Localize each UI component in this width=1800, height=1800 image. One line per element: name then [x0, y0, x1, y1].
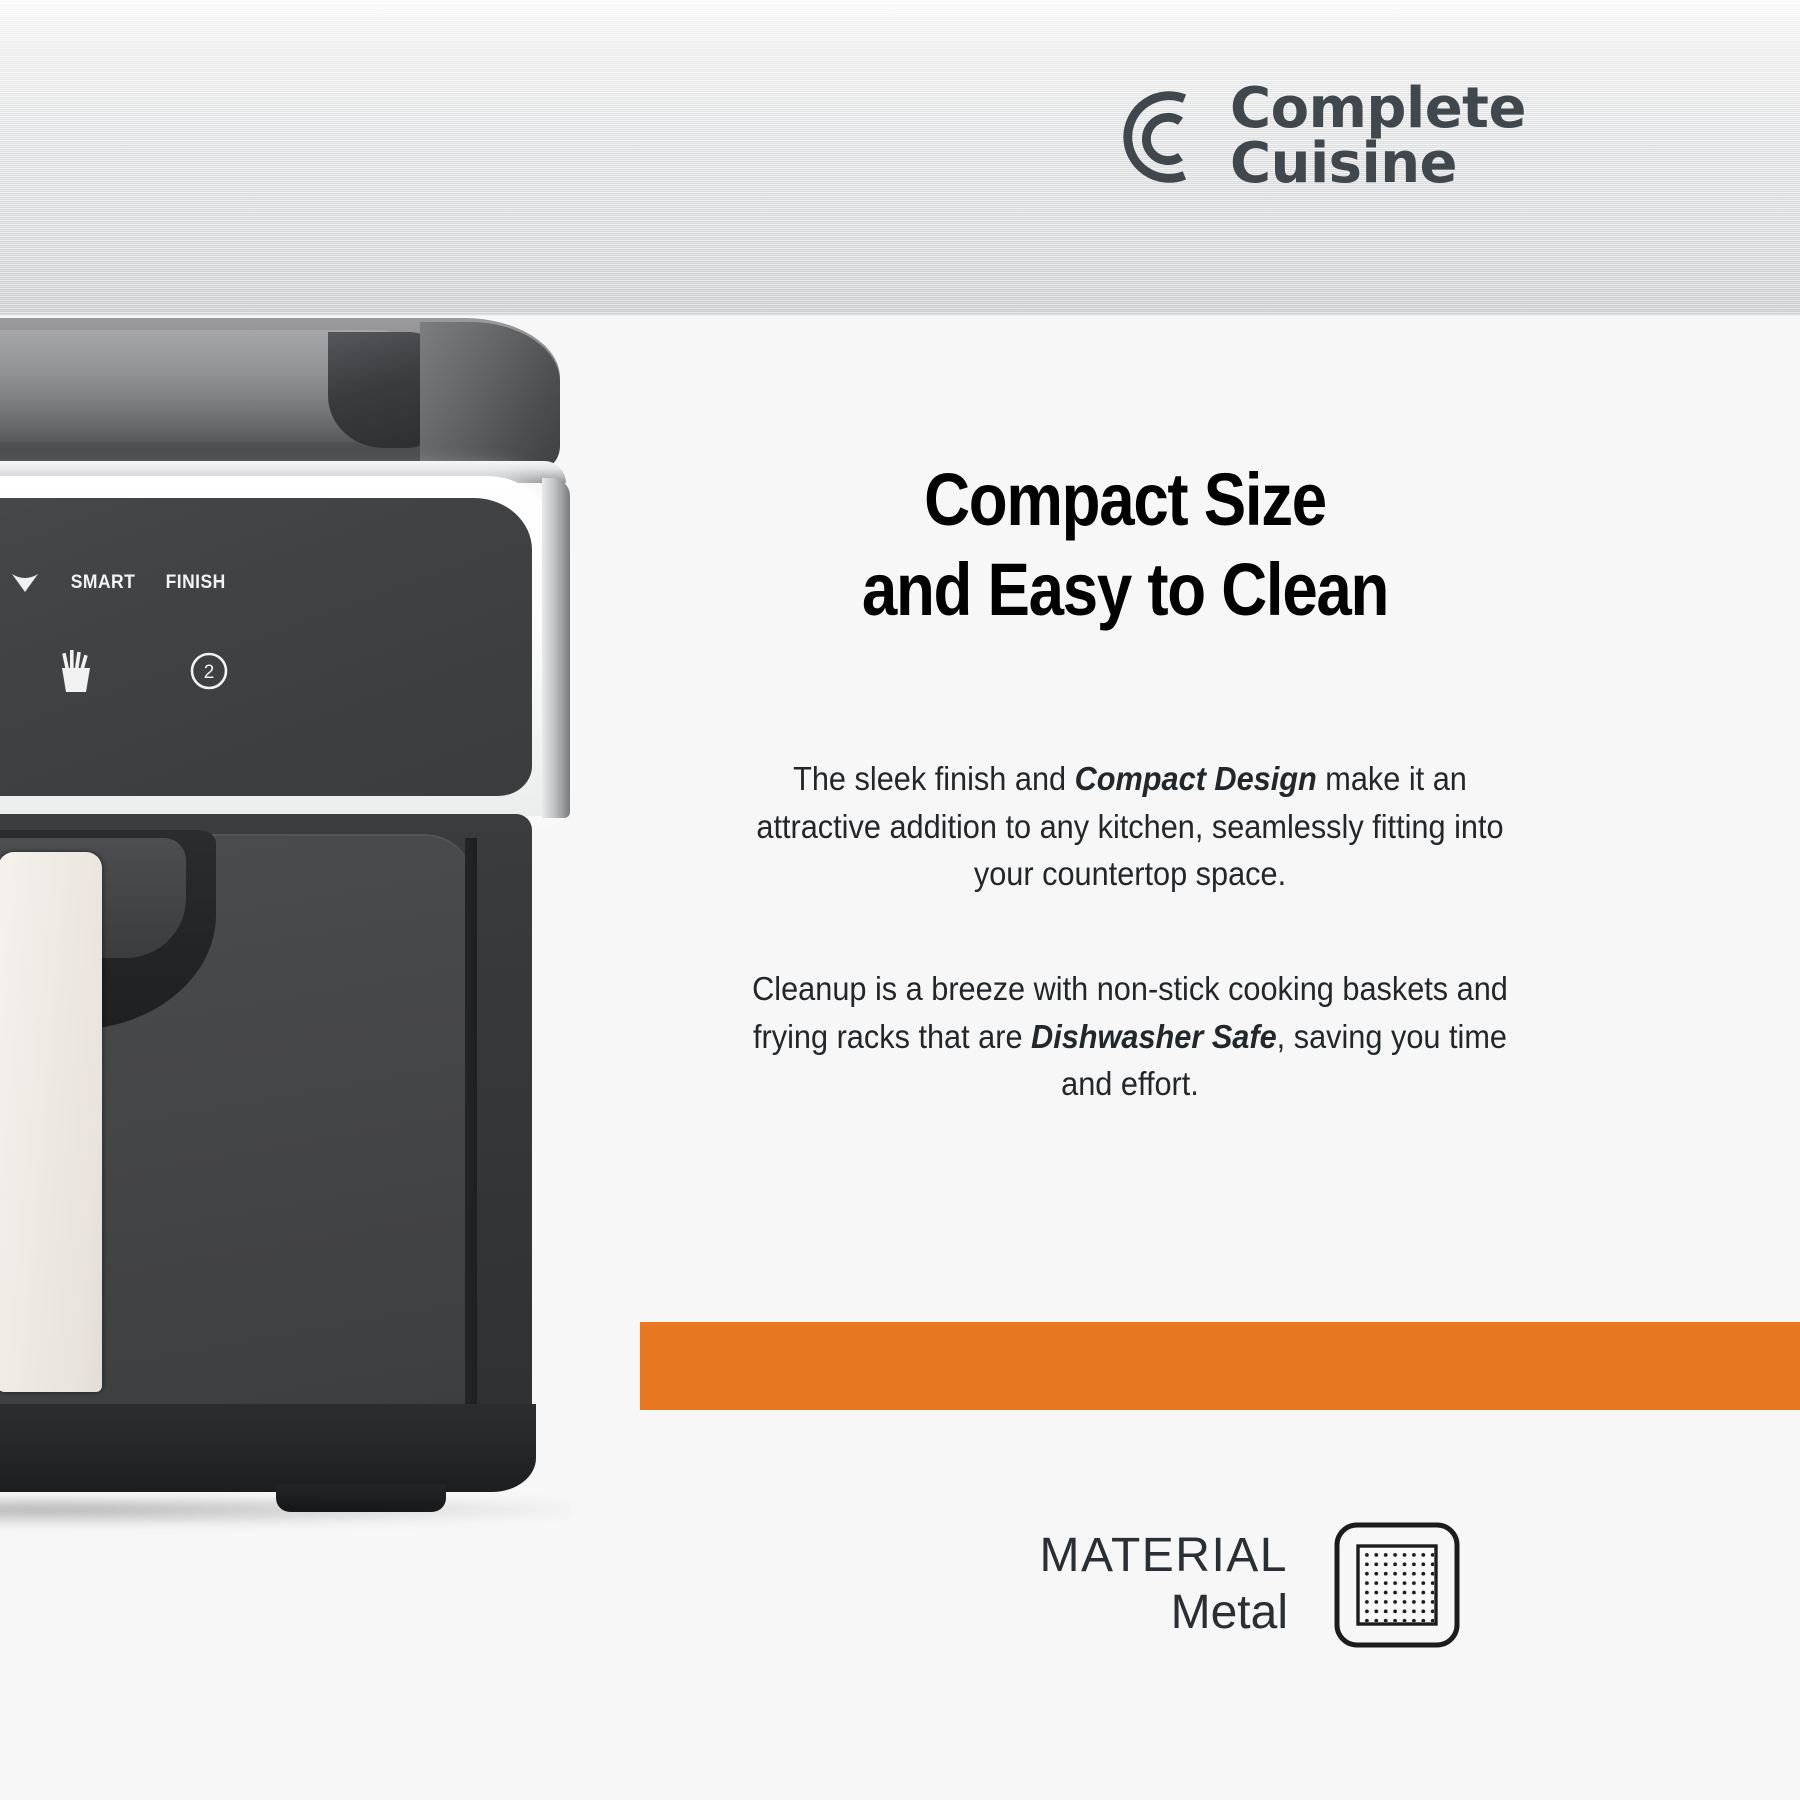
material-label: MATERIAL [1040, 1528, 1288, 1585]
brand-logo: Complete Cuisine [1090, 78, 1526, 196]
logo-line-2: Cuisine [1230, 137, 1526, 192]
drawer-handle[interactable] [0, 852, 102, 1392]
orange-accent-bar [640, 1322, 1800, 1410]
material-value: Metal [1040, 1585, 1288, 1642]
fryer-drawer-seam [465, 838, 477, 1418]
headline-line-1: Compact Size [924, 458, 1326, 541]
finish-button[interactable]: FINISH [148, 572, 244, 594]
air-fryer-product-image: 350F [0, 318, 590, 1518]
para2-emphasis: Dishwasher Safe [1031, 1018, 1277, 1055]
material-text-block: MATERIAL Metal [1040, 1528, 1288, 1641]
smart-button[interactable]: SMART [58, 572, 148, 594]
product-panel-brand: e Cuisine [0, 758, 30, 812]
control-button-row: SMART FINISH [0, 556, 320, 610]
para1-emphasis: Compact Design [1075, 760, 1317, 797]
svg-text:2: 2 [204, 662, 215, 683]
material-badge: MATERIAL Metal [1040, 1495, 1460, 1675]
dual-zone-preset-icon[interactable]: 2 [144, 651, 274, 691]
preset-icon-row: 2 [0, 636, 282, 706]
control-panel-right-edge [542, 478, 570, 818]
para1-lead: The sleek finish and [793, 760, 1074, 797]
double-arc-c-logo-icon [1090, 78, 1208, 196]
feature-paragraph-1: The sleek finish and Compact Design make… [739, 755, 1520, 898]
product-feature-banner: Complete Cuisine Compact Size and Easy t… [0, 0, 1800, 1800]
header-band [0, 0, 1800, 316]
feature-paragraph-2: Cleanup is a breeze with non-stick cooki… [739, 965, 1520, 1108]
smart-button-label: SMART [71, 572, 135, 594]
pizza-preset-icon[interactable] [0, 652, 8, 690]
fryer-base [0, 1404, 536, 1492]
temp-down-arrow-icon[interactable] [0, 572, 58, 594]
headline-line-2: and Easy to Clean [760, 545, 1491, 635]
fryer-lid-right-shoulder [420, 322, 560, 472]
fries-preset-icon[interactable] [8, 649, 144, 693]
perforated-metal-mesh-icon [1334, 1522, 1460, 1648]
page-title: Compact Size and Easy to Clean [760, 455, 1491, 636]
finish-button-label: FINISH [166, 572, 226, 594]
logo-wordmark: Complete Cuisine [1230, 82, 1526, 192]
fryer-contact-shadow [0, 1500, 570, 1526]
